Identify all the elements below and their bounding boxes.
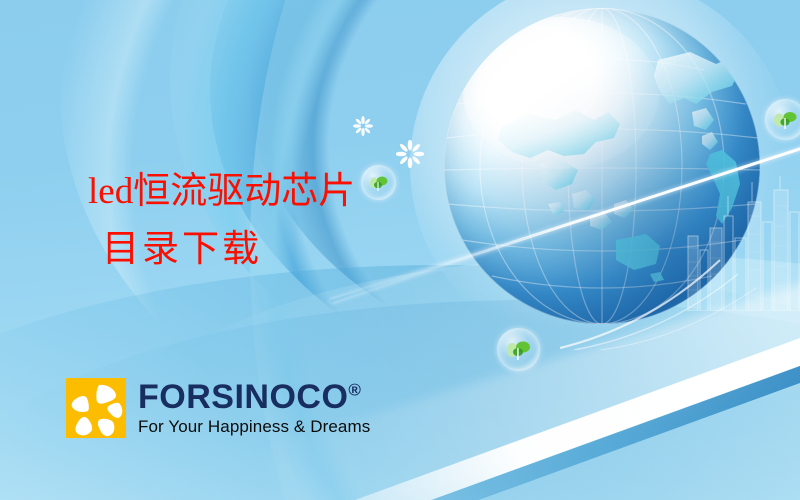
green-sprout-icon: [497, 328, 540, 371]
sparkle-flower-icon: [353, 116, 373, 136]
green-sprout-icon: [361, 165, 396, 200]
bubble-sprout-right: [765, 99, 800, 140]
logo-wordmark-text: FORSINOCO: [138, 378, 348, 416]
logo-text-block: FORSINOCO® For Your Happiness & Dreams: [138, 378, 370, 437]
registered-trademark-icon: ®: [348, 381, 361, 400]
sparkle-flower-icon: [396, 140, 424, 168]
four-petal-pinwheel-icon: [66, 378, 126, 438]
promo-banner: led恒流驱动芯片 目录下载 FORSINOCO® For Your Happi…: [0, 0, 800, 500]
headline: led恒流驱动芯片 目录下载: [88, 163, 355, 279]
bubble-sprout-center: [497, 328, 540, 371]
city-skyline-icon: [680, 176, 800, 311]
logo-wordmark: FORSINOCO®: [138, 380, 370, 414]
company-logo: FORSINOCO® For Your Happiness & Dreams: [66, 378, 370, 438]
green-sprout-icon: [765, 99, 800, 140]
logo-tagline: For Your Happiness & Dreams: [138, 417, 370, 437]
pinwheel-petals: [66, 378, 126, 438]
headline-line-1: led恒流驱动芯片: [88, 163, 355, 221]
bubble-sprout-left: [361, 165, 396, 200]
headline-line-2: 目录下载: [88, 221, 355, 279]
